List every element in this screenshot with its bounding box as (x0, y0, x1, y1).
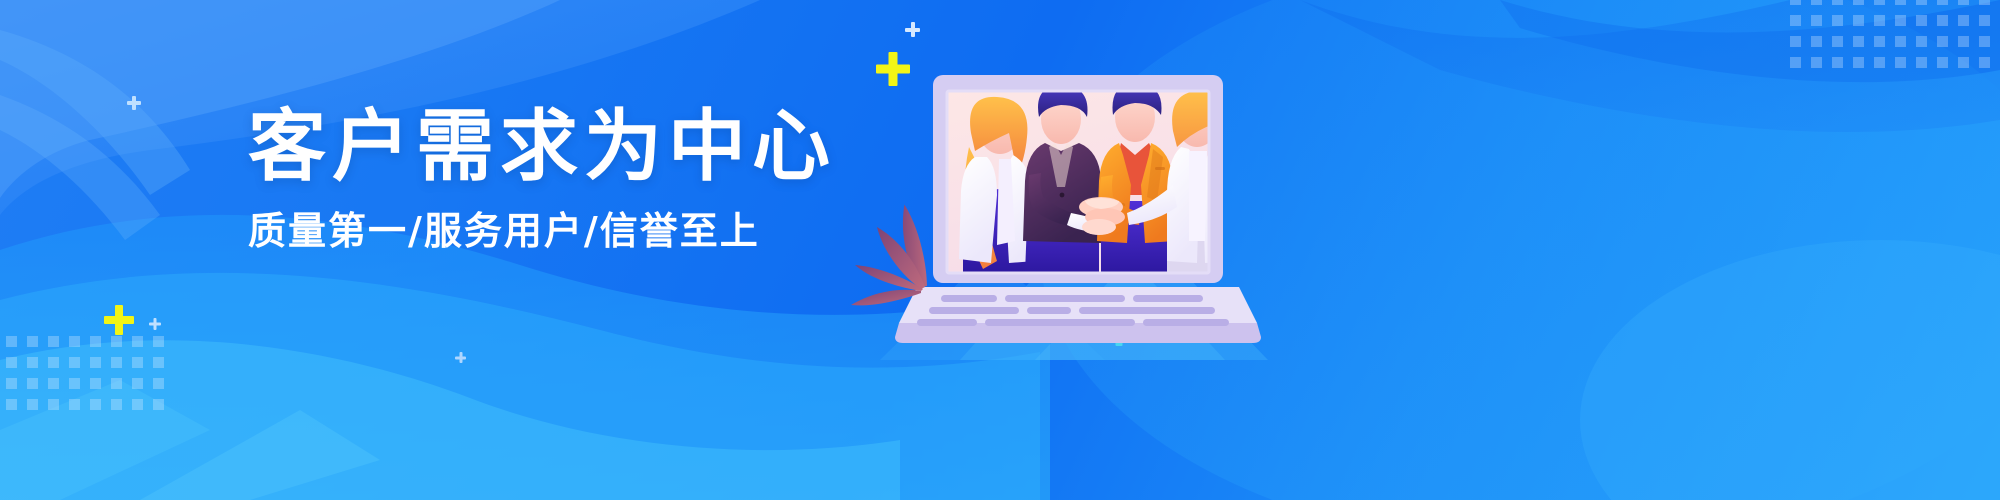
plus-white-bottom-left-icon (149, 318, 161, 330)
marketing-banner: 客户需求为中心 质量第一/服务用户/信誉至上 (0, 0, 2000, 500)
plus-white-mid-left-icon (127, 96, 141, 110)
page-title: 客户需求为中心 (248, 108, 868, 186)
dot-grid-bottom-left (6, 336, 186, 432)
headline-block: 客户需求为中心 质量第一/服务用户/信誉至上 (248, 108, 868, 250)
page-subtitle: 质量第一/服务用户/信誉至上 (248, 212, 868, 250)
laptop-illustration (905, 55, 1305, 355)
plus-white-small-icon (905, 22, 920, 37)
laptop-base-top (899, 287, 1257, 323)
dot-grid-top-right (1790, 0, 2000, 90)
plus-yellow-bottom-icon (104, 305, 134, 335)
plus-white-tiny-icon (455, 352, 466, 363)
